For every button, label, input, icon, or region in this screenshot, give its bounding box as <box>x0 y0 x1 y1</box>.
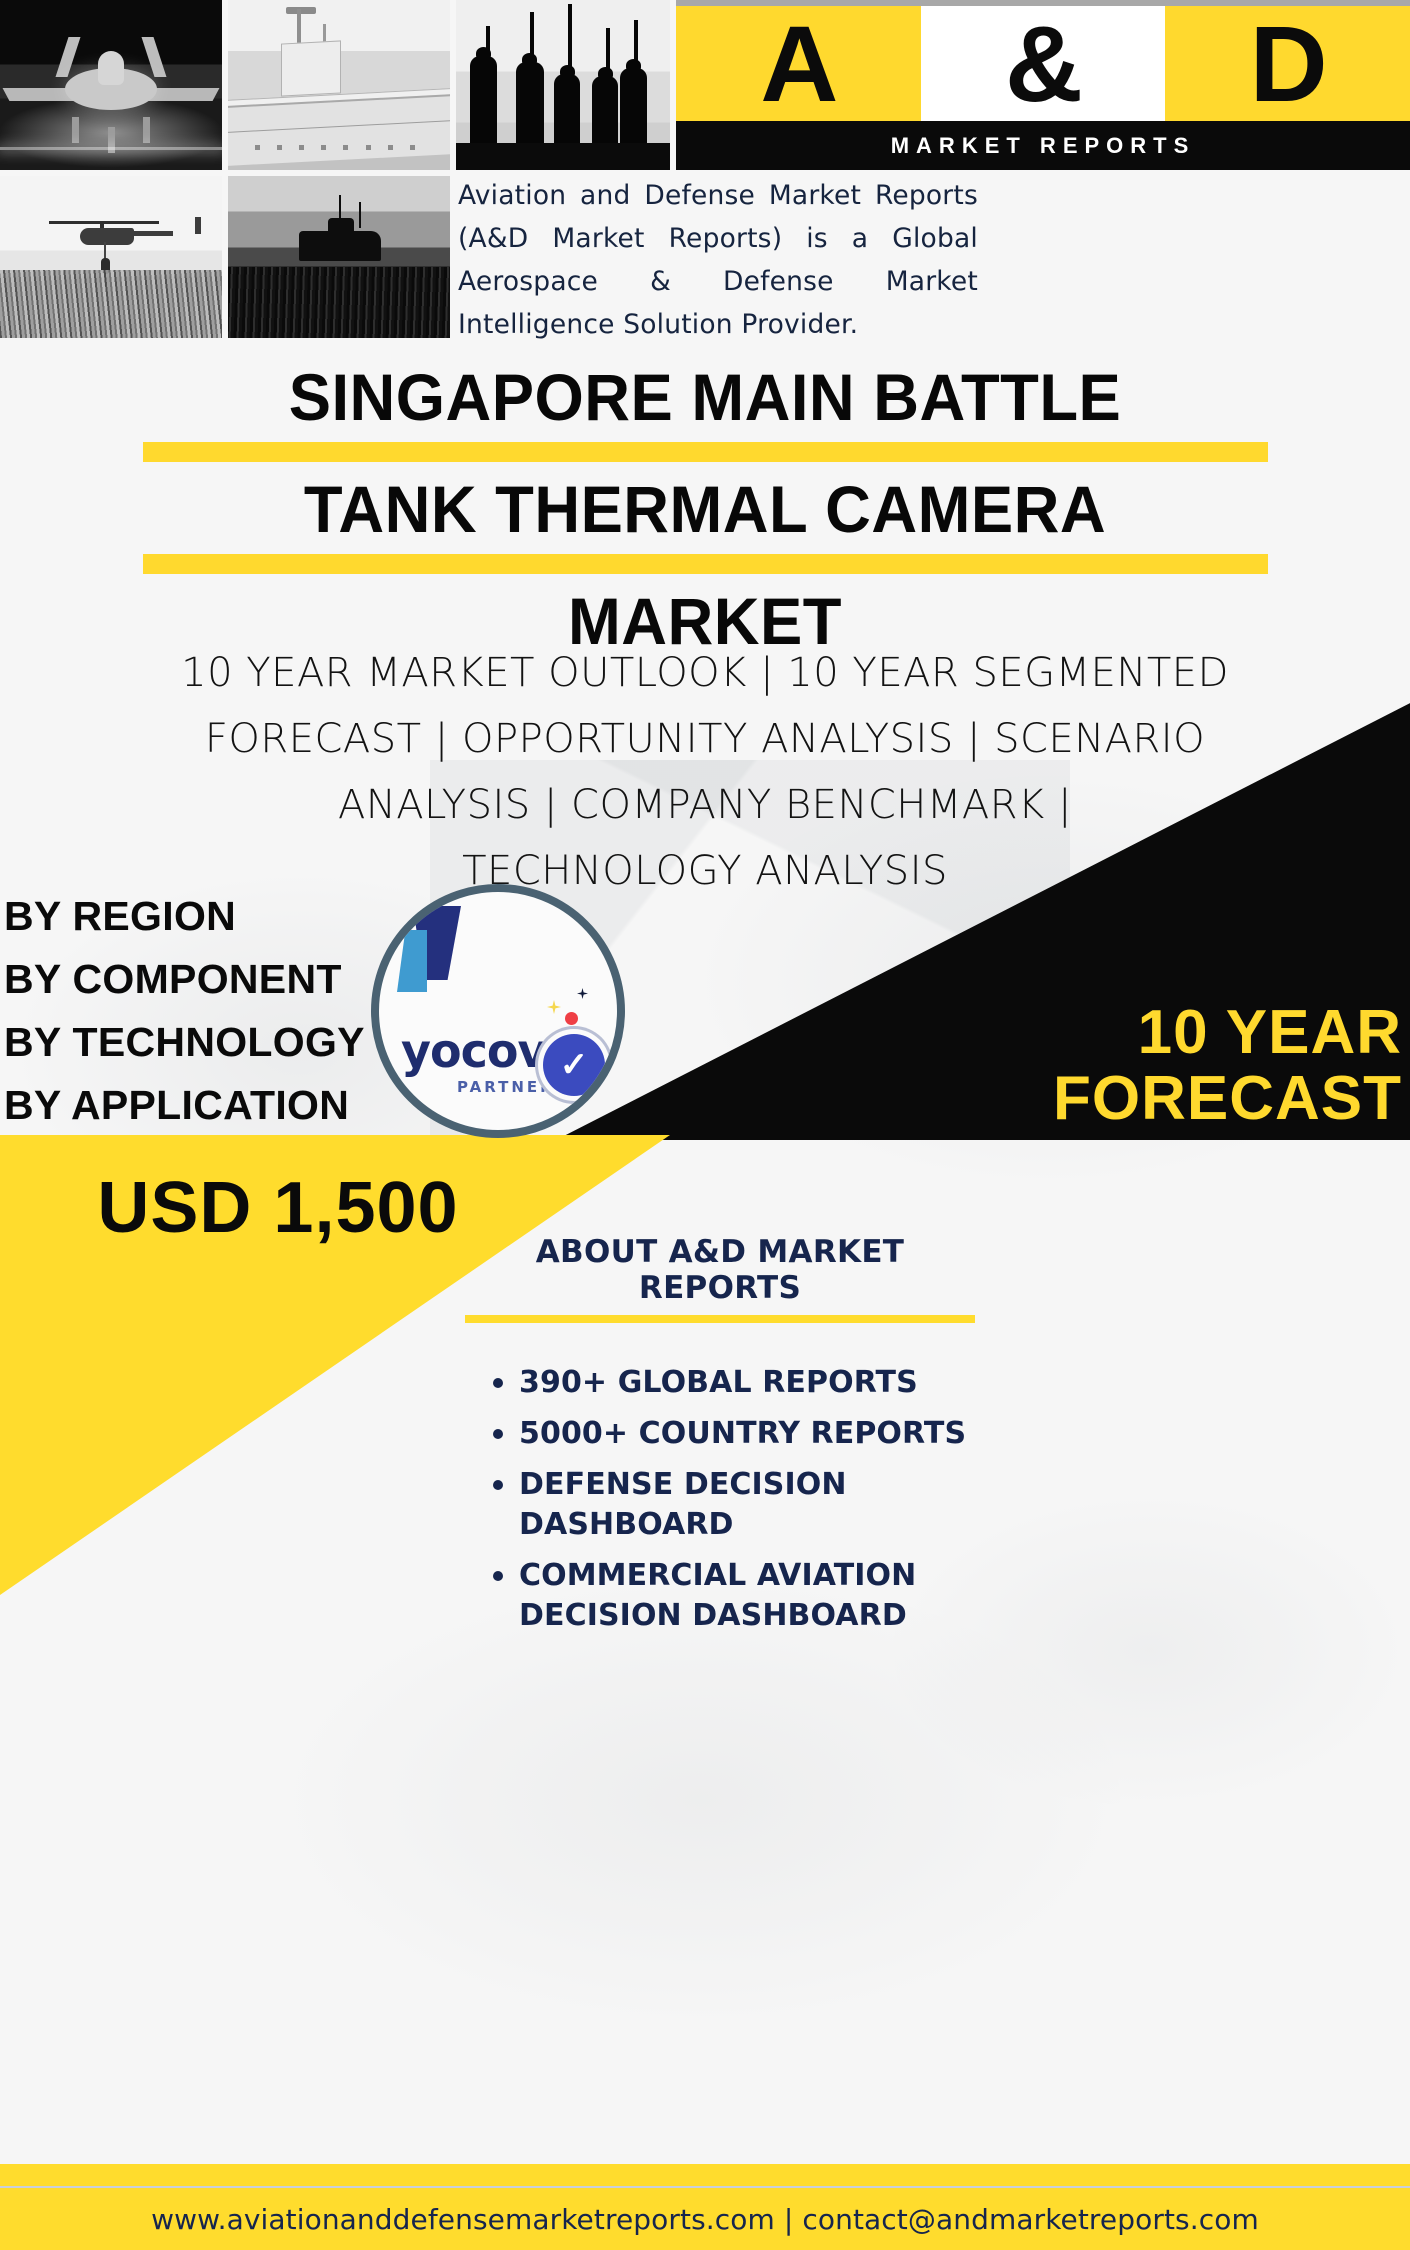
sparkle-icon-yellow <box>547 1000 561 1014</box>
poster-root: A & D MARKET REPORTS Aviation and Defens… <box>0 0 1410 2250</box>
report-title-block: SINGAPORE MAIN BATTLE TANK THERMAL CAMER… <box>0 358 1410 660</box>
photo-helicopter-fast-rope <box>0 176 222 338</box>
logo-cell-a: A <box>676 6 921 121</box>
report-scope-subtitle: 10 YEAR MARKET OUTLOOK | 10 YEAR SEGMENT… <box>30 640 1380 904</box>
scope-line-3: ANALYSIS | COMPANY BENCHMARK | <box>30 772 1380 838</box>
company-intro-paragraph: Aviation and Defense Market Reports (A&D… <box>458 174 978 346</box>
logo-letter-cells: A & D <box>676 6 1410 121</box>
about-bullet-defense-dashboard: DEFENSE DECISION DASHBOARD <box>519 1465 985 1545</box>
logo-cell-d: D <box>1165 6 1410 121</box>
about-bullet-country-reports: 5000+ COUNTRY REPORTS <box>519 1414 985 1454</box>
logo-letter-ampersand: & <box>1005 10 1081 118</box>
logo-tagline-bar: MARKET REPORTS <box>676 121 1410 170</box>
photo-soldiers-silhouette <box>456 0 670 170</box>
price-value: USD 1,500 <box>48 1168 508 1248</box>
check-icon: ✓ <box>543 1034 605 1096</box>
about-section: ABOUT A&D MARKET REPORTS 390+ GLOBAL REP… <box>455 1234 985 1647</box>
yocova-mark-shape-light <box>397 930 427 992</box>
forecast-line-1: 10 YEAR <box>802 1000 1402 1066</box>
ten-year-forecast-callout: 10 YEAR FORECAST <box>802 1000 1402 1132</box>
about-bullet-commercial-dashboard: COMMERCIAL AVIATION DECISION DASHBOARD <box>519 1556 985 1636</box>
yocova-partner-badge: yocova PARTNER ✓ <box>371 884 625 1138</box>
logo-cell-ampersand: & <box>921 6 1166 121</box>
report-title-line-2: TANK THERMAL CAMERA <box>28 470 1382 548</box>
sparkle-icon-dark <box>577 988 588 999</box>
about-section-title: ABOUT A&D MARKET REPORTS <box>455 1234 985 1306</box>
photo-armored-vehicle-field <box>228 176 450 338</box>
logo-letter-d: D <box>1250 10 1326 118</box>
logo-letter-a: A <box>760 10 836 118</box>
footer-contact-line[interactable]: www.aviationanddefensemarketreports.com … <box>0 2188 1410 2250</box>
segmentation-list: BY REGION BY COMPONENT BY TECHNOLOGY BY … <box>4 885 404 1137</box>
photo-aircraft-carrier <box>228 0 450 170</box>
title-divider-bar-2 <box>143 554 1268 574</box>
about-title-underline <box>465 1315 975 1323</box>
segmentation-item-component: BY COMPONENT <box>4 948 404 1011</box>
segmentation-item-region: BY REGION <box>4 885 404 948</box>
segmentation-item-technology: BY TECHNOLOGY <box>4 1011 404 1074</box>
scope-line-1: 10 YEAR MARKET OUTLOOK | 10 YEAR SEGMENT… <box>30 640 1380 706</box>
logo-tagline: MARKET REPORTS <box>891 133 1196 159</box>
report-title-line-1: SINGAPORE MAIN BATTLE <box>28 358 1382 436</box>
forecast-line-2: FORECAST <box>802 1066 1402 1132</box>
ad-market-reports-logo: A & D MARKET REPORTS <box>676 0 1410 170</box>
photo-fighter-jet-on-carrier-deck <box>0 0 222 170</box>
about-bullet-global-reports: 390+ GLOBAL REPORTS <box>519 1363 985 1403</box>
about-bullet-list: 390+ GLOBAL REPORTS 5000+ COUNTRY REPORT… <box>455 1363 985 1636</box>
scope-line-2: FORECAST | OPPORTUNITY ANALYSIS | SCENAR… <box>30 706 1380 772</box>
segmentation-item-application: BY APPLICATION <box>4 1074 404 1137</box>
title-divider-bar-1 <box>143 442 1268 462</box>
